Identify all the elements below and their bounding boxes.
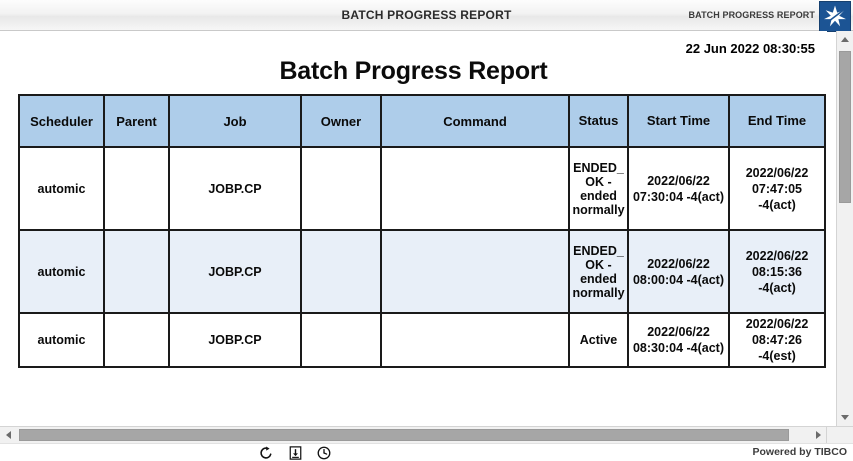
cell-scheduler: automic	[19, 230, 104, 313]
cell-owner	[301, 313, 381, 367]
table-row[interactable]: automic JOBP.CP ENDED_OK - ended normall…	[19, 230, 825, 313]
cell-command	[381, 313, 569, 367]
cell-status: Active	[569, 313, 628, 367]
cell-parent	[104, 313, 169, 367]
cell-job: JOBP.CP	[169, 147, 301, 230]
cell-status: ENDED_OK - ended normally	[569, 230, 628, 313]
scrollbar-corner	[826, 426, 853, 443]
tibco-logo-icon	[819, 1, 851, 32]
cell-start-time: 2022/06/22 07:30:04 -4(act)	[628, 147, 729, 230]
download-icon[interactable]	[287, 445, 303, 461]
cell-command	[381, 147, 569, 230]
table-row[interactable]: automic JOBP.CP Active 2022/06/22 08:30:…	[19, 313, 825, 367]
column-header-owner[interactable]: Owner	[301, 95, 381, 147]
scroll-right-arrow-icon[interactable]	[810, 427, 827, 443]
cell-scheduler: automic	[19, 147, 104, 230]
column-header-command[interactable]: Command	[381, 95, 569, 147]
cell-command	[381, 230, 569, 313]
vertical-scrollbar[interactable]	[836, 31, 853, 426]
cell-end-time: 2022/06/22 07:47:05 -4(act)	[729, 147, 825, 230]
refresh-icon[interactable]	[258, 445, 274, 461]
scroll-down-arrow-icon[interactable]	[837, 409, 853, 426]
cell-job: JOBP.CP	[169, 230, 301, 313]
report-timestamp: 22 Jun 2022 08:30:55	[686, 41, 815, 56]
batch-progress-table: Scheduler Parent Job Owner Command Statu…	[18, 94, 826, 368]
column-header-start-time[interactable]: Start Time	[628, 95, 729, 147]
horizontal-scrollbar[interactable]	[0, 426, 827, 443]
cell-start-time: 2022/06/22 08:30:04 -4(act)	[628, 313, 729, 367]
scroll-up-arrow-icon[interactable]	[837, 31, 853, 48]
cell-scheduler: automic	[19, 313, 104, 367]
column-header-scheduler[interactable]: Scheduler	[19, 95, 104, 147]
clock-icon[interactable]	[316, 445, 332, 461]
report-viewport: 22 Jun 2022 08:30:55 Batch Progress Repo…	[0, 31, 827, 426]
horizontal-scrollbar-thumb[interactable]	[19, 429, 789, 441]
scroll-left-arrow-icon[interactable]	[0, 427, 17, 443]
cell-end-time: 2022/06/22 08:47:26 -4(est)	[729, 313, 825, 367]
cell-job: JOBP.CP	[169, 313, 301, 367]
cell-parent	[104, 147, 169, 230]
column-header-status[interactable]: Status	[569, 95, 628, 147]
toolbar-icon-group	[258, 445, 332, 461]
cell-end-time: 2022/06/22 08:15:36 -4(act)	[729, 230, 825, 313]
cell-owner	[301, 147, 381, 230]
cell-status: ENDED_OK - ended normally	[569, 147, 628, 230]
table-header-row: Scheduler Parent Job Owner Command Statu…	[19, 95, 825, 147]
powered-by-label: Powered by TIBCO	[752, 446, 847, 458]
window-tab-label: BATCH PROGRESS REPORT	[689, 0, 815, 30]
vertical-scrollbar-thumb[interactable]	[839, 51, 851, 203]
cell-start-time: 2022/06/22 08:00:04 -4(act)	[628, 230, 729, 313]
batch-progress-report-window: BATCH PROGRESS REPORT BATCH PROGRESS REP…	[0, 0, 853, 461]
window-title-bar: BATCH PROGRESS REPORT BATCH PROGRESS REP…	[0, 0, 853, 31]
column-header-end-time[interactable]: End Time	[729, 95, 825, 147]
column-header-parent[interactable]: Parent	[104, 95, 169, 147]
column-header-job[interactable]: Job	[169, 95, 301, 147]
cell-owner	[301, 230, 381, 313]
bottom-toolbar: Powered by TIBCO	[0, 443, 853, 461]
report-title: Batch Progress Report	[0, 57, 827, 86]
table-row[interactable]: automic JOBP.CP ENDED_OK - ended normall…	[19, 147, 825, 230]
cell-parent	[104, 230, 169, 313]
